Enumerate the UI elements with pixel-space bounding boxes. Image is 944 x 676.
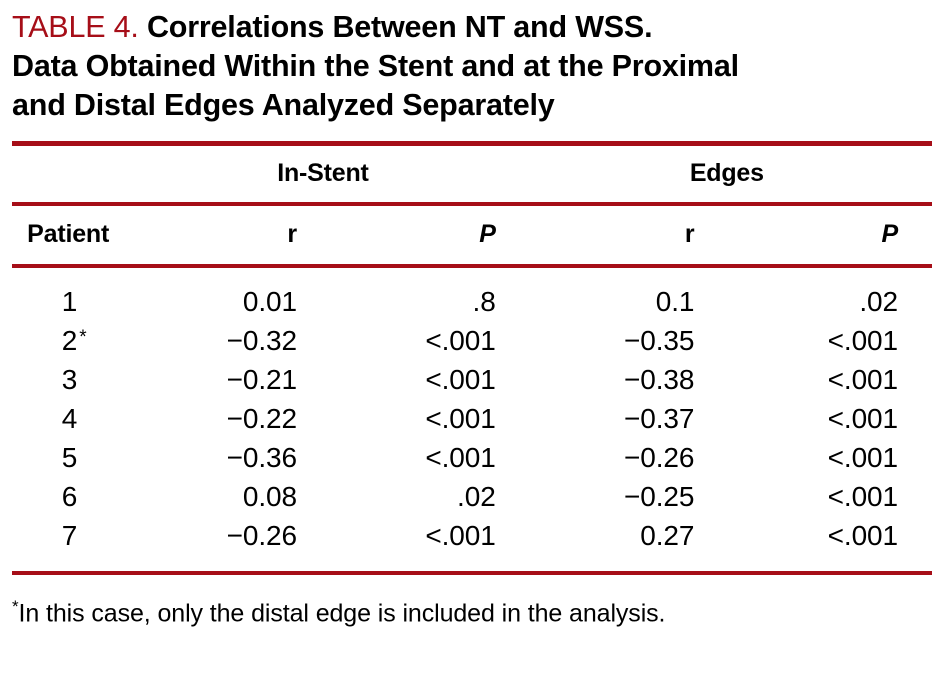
cell-patient: 1 (12, 268, 124, 322)
cell-p-in-stent: <.001 (323, 439, 522, 478)
group-header-in-stent: In-Stent (124, 146, 521, 202)
table-row: 7 −0.26 <.001 0.27 <.001 (12, 517, 932, 572)
cell-p-edges: <.001 (720, 322, 932, 361)
cell-p-in-stent: <.001 (323, 361, 522, 400)
cell-r-in-stent: −0.22 (124, 400, 323, 439)
column-header-r-in-stent: r (124, 206, 323, 264)
footnote-text: In this case, only the distal edge is in… (19, 599, 666, 627)
cell-patient-number: 2 (62, 325, 77, 356)
table-row: 3 −0.21 <.001 −0.38 <.001 (12, 361, 932, 400)
group-header-table: In-Stent Edges (12, 146, 932, 202)
cell-p-edges: <.001 (720, 400, 932, 439)
cell-r-edges: −0.35 (522, 322, 721, 361)
cell-r-in-stent: 0.08 (124, 478, 323, 517)
cell-r-edges: −0.25 (522, 478, 721, 517)
cell-r-in-stent: −0.36 (124, 439, 323, 478)
table-row: 5 −0.36 <.001 −0.26 <.001 (12, 439, 932, 478)
cell-p-in-stent: <.001 (323, 400, 522, 439)
column-header-r-edges: r (522, 206, 721, 264)
cell-patient: 2* (12, 322, 124, 361)
cell-patient-footnote-marker: * (79, 328, 86, 347)
cell-p-in-stent: .02 (323, 478, 522, 517)
column-header-p-edges: P (720, 206, 932, 264)
cell-p-edges: <.001 (720, 439, 932, 478)
cell-r-edges: 0.1 (522, 268, 721, 322)
cell-patient: 3 (12, 361, 124, 400)
table-row: 1 0.01 .8 0.1 .02 (12, 268, 932, 322)
column-header-patient: Patient (12, 206, 124, 264)
cell-r-in-stent: −0.21 (124, 361, 323, 400)
table-title-text-1: Correlations Between NT and WSS. (139, 10, 653, 44)
cell-r-edges: 0.27 (522, 517, 721, 572)
cell-r-edges: −0.38 (522, 361, 721, 400)
cell-patient-number: 5 (62, 442, 77, 473)
table-number-label: TABLE 4. (12, 10, 139, 44)
cell-r-in-stent: −0.32 (124, 322, 323, 361)
table-title: TABLE 4. Correlations Between NT and WSS… (12, 0, 932, 125)
table-title-line-3: and Distal Edges Analyzed Separately (12, 86, 932, 125)
cell-p-in-stent: <.001 (323, 517, 522, 572)
cell-p-edges: <.001 (720, 517, 932, 572)
cell-p-edges: .02 (720, 268, 932, 322)
cell-patient: 7 (12, 517, 124, 572)
cell-patient: 5 (12, 439, 124, 478)
cell-patient-number: 6 (62, 481, 77, 512)
cell-p-edges: <.001 (720, 478, 932, 517)
table-footnote: *In this case, only the distal edge is i… (12, 575, 932, 629)
cell-p-edges: <.001 (720, 361, 932, 400)
column-header-row: Patient r P r P (12, 206, 932, 264)
cell-patient-number: 1 (62, 286, 77, 317)
cell-patient: 4 (12, 400, 124, 439)
cell-patient-number: 3 (62, 364, 77, 395)
table-figure: TABLE 4. Correlations Between NT and WSS… (0, 0, 944, 676)
cell-r-edges: −0.26 (522, 439, 721, 478)
group-header-edges: Edges (522, 146, 932, 202)
column-header-table: Patient r P r P (12, 206, 932, 264)
cell-patient-number: 4 (62, 403, 77, 434)
cell-p-in-stent: <.001 (323, 322, 522, 361)
group-header-blank (12, 146, 124, 202)
group-header-row: In-Stent Edges (12, 146, 932, 202)
column-header-p-in-stent: P (323, 206, 522, 264)
table-row: 2* −0.32 <.001 −0.35 <.001 (12, 322, 932, 361)
cell-patient: 6 (12, 478, 124, 517)
table-title-line-1: TABLE 4. Correlations Between NT and WSS… (12, 8, 932, 47)
table-row: 6 0.08 .02 −0.25 <.001 (12, 478, 932, 517)
cell-r-edges: −0.37 (522, 400, 721, 439)
table-row: 4 −0.22 <.001 −0.37 <.001 (12, 400, 932, 439)
cell-r-in-stent: 0.01 (124, 268, 323, 322)
table-title-line-2: Data Obtained Within the Stent and at th… (12, 47, 932, 86)
table-body: 1 0.01 .8 0.1 .02 2* −0.32 <.001 −0.35 <… (12, 268, 932, 571)
cell-p-in-stent: .8 (323, 268, 522, 322)
cell-patient-number: 7 (62, 520, 77, 551)
table-body-rows: 1 0.01 .8 0.1 .02 2* −0.32 <.001 −0.35 <… (12, 268, 932, 571)
cell-r-in-stent: −0.26 (124, 517, 323, 572)
